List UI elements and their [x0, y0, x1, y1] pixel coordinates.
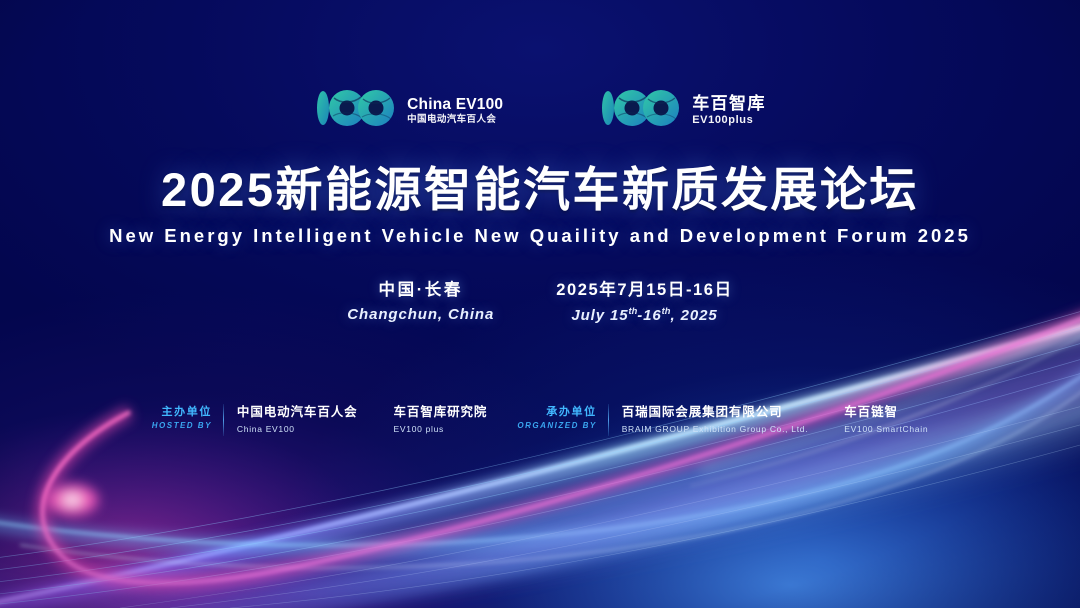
organized-divider: [608, 404, 609, 436]
organizer-name-en: EV100 SmartChain: [844, 423, 928, 436]
hosted-divider: [223, 404, 224, 436]
event-meta-row: 中国·长春 Changchun, China 2025年7月15日-16日 Ju…: [0, 280, 1080, 325]
organizer-group-hosted: 主办单位 HOSTED BY 中国电动汽车百人会 China EV100 车百智…: [152, 404, 488, 436]
organizer-name-en: EV100 plus: [394, 423, 488, 436]
hosted-by-label-cn: 主办单位: [152, 405, 212, 420]
date-en: July 15th-16th, 2025: [556, 306, 732, 326]
logo-china-ev100: China EV100 中国电动汽车百人会: [314, 88, 503, 133]
date-en-suffix: , 2025: [670, 307, 717, 324]
date-en-sup1: th: [629, 306, 638, 316]
organizer-name-en: BRAIM GROUP Exhibition Group Co., Ltd.: [622, 423, 809, 436]
logo-row: China EV100 中国电动汽车百人会: [0, 88, 1080, 133]
ev100-logo-main: China EV100: [407, 97, 503, 113]
list-item: 百瑞国际会展集团有限公司 BRAIM GROUP Exhibition Grou…: [622, 404, 809, 436]
ev100-logo-sub: 中国电动汽车百人会: [407, 115, 503, 125]
list-item: 中国电动汽车百人会 China EV100: [237, 404, 358, 436]
page-subtitle: New Energy Intelligent Vehicle New Quail…: [0, 226, 1080, 246]
title-block: 2025新能源智能汽车新质发展论坛 New Energy Intelligent…: [0, 164, 1080, 246]
list-item: 车百链智 EV100 SmartChain: [844, 404, 928, 436]
poster-content: China EV100 中国电动汽车百人会: [0, 0, 1080, 608]
organizer-name-cn: 车百链智: [844, 404, 928, 421]
ev100plus-logo-main: 车百智库: [692, 95, 766, 112]
organized-items: 百瑞国际会展集团有限公司 BRAIM GROUP Exhibition Grou…: [622, 404, 929, 436]
organized-by-label-en: ORGANIZED BY: [517, 420, 596, 431]
hosted-by-label: 主办单位 HOSTED BY: [152, 404, 223, 431]
list-item: 车百智库研究院 EV100 plus: [394, 404, 488, 436]
date-block: 2025年7月15日-16日 July 15th-16th, 2025: [556, 280, 732, 325]
organizer-name-en: China EV100: [237, 423, 358, 436]
ev100plus-logo-sub: EV100plus: [692, 115, 766, 126]
ev100plus-logo-text: 车百智库 EV100plus: [692, 95, 766, 126]
ev100plus-logo-icon: [599, 88, 683, 133]
organizer-group-organized: 承办单位 ORGANIZED BY 百瑞国际会展集团有限公司 BRAIM GRO…: [517, 404, 928, 436]
ev100-logo-icon: [314, 88, 398, 133]
organized-by-label: 承办单位 ORGANIZED BY: [517, 404, 607, 431]
hosted-items: 中国电动汽车百人会 China EV100 车百智库研究院 EV100 plus: [237, 404, 487, 436]
date-en-prefix: July 15: [571, 307, 628, 324]
venue-cn: 中国·长春: [347, 280, 494, 301]
venue-en: Changchun, China: [347, 306, 494, 325]
page-title: 2025新能源智能汽车新质发展论坛: [0, 164, 1080, 216]
logo-ev100plus: 车百智库 EV100plus: [599, 88, 766, 133]
date-cn: 2025年7月15日-16日: [556, 280, 732, 301]
organized-by-label-cn: 承办单位: [517, 405, 596, 420]
conference-poster: China EV100 中国电动汽车百人会: [0, 0, 1080, 608]
hosted-by-label-en: HOSTED BY: [152, 420, 212, 431]
organizers-row: 主办单位 HOSTED BY 中国电动汽车百人会 China EV100 车百智…: [0, 404, 1080, 436]
organizer-name-cn: 中国电动汽车百人会: [237, 404, 358, 421]
organizer-name-cn: 车百智库研究院: [394, 404, 488, 421]
venue-block: 中国·长春 Changchun, China: [347, 280, 494, 324]
date-en-mid: -16: [637, 307, 661, 324]
ev100-logo-text: China EV100 中国电动汽车百人会: [407, 97, 503, 125]
organizer-name-cn: 百瑞国际会展集团有限公司: [622, 404, 809, 421]
